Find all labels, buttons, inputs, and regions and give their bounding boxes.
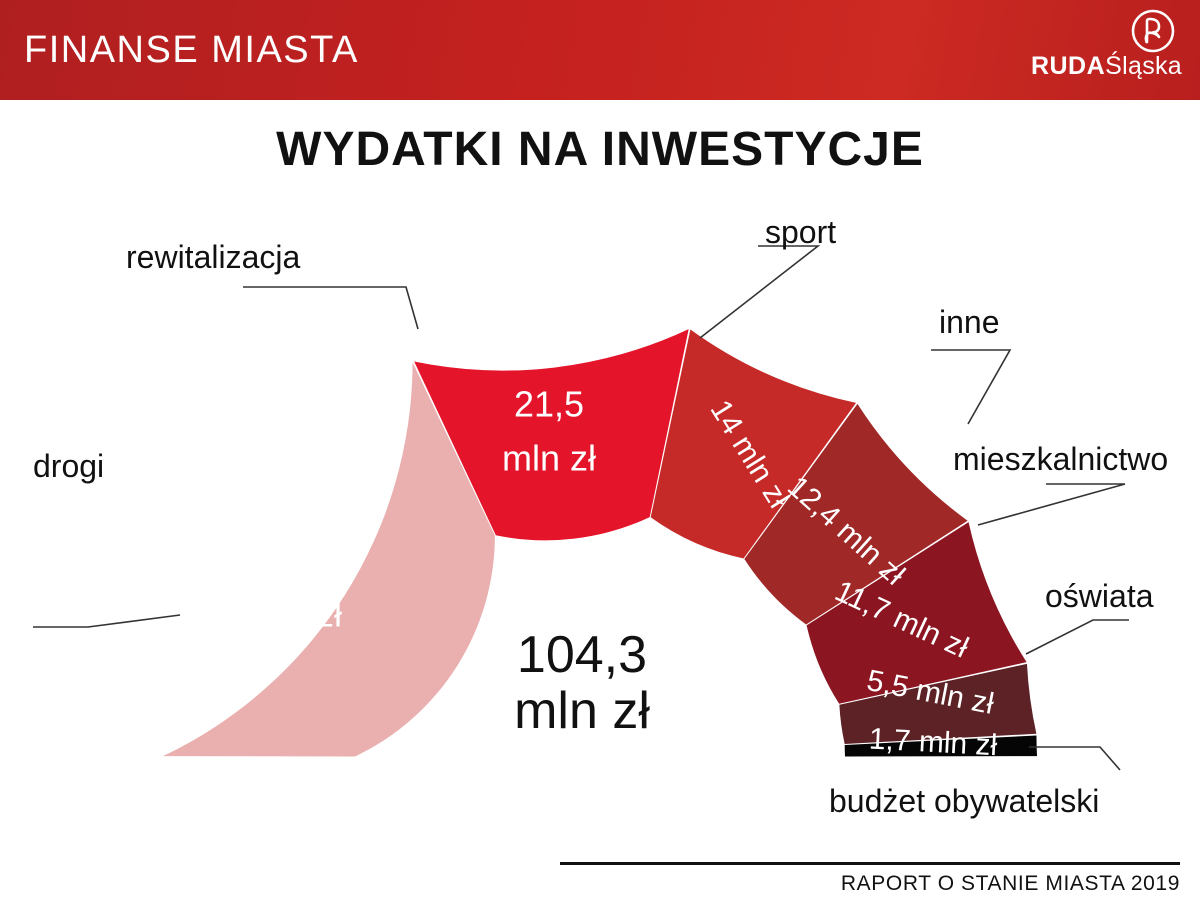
callout-label-sport: sport bbox=[765, 214, 836, 250]
center-total-value: 104,3 bbox=[517, 626, 647, 684]
slice-value-drogi: 37,5 bbox=[260, 549, 330, 590]
callout-label-oswiata: oświata bbox=[1045, 578, 1154, 614]
callout-label-mieszkalnictwo: mieszkalnictwo bbox=[953, 441, 1168, 477]
leader-line-drogi bbox=[33, 615, 180, 627]
leader-line-mieszkalnictwo bbox=[978, 484, 1125, 525]
half-donut-chart: 37,5 mln zł 21,5 mln zł 14 mln zł 12,4 m… bbox=[0, 0, 1200, 900]
leader-line-oswiata bbox=[1026, 620, 1129, 654]
slice-value-rewitalizacja: 21,5 bbox=[514, 384, 584, 425]
callout-label-drogi: drogi bbox=[33, 448, 104, 484]
slice-value-budzet-obywatelski: 1,7 mln zł bbox=[868, 723, 998, 763]
slice-unit-drogi: mln zł bbox=[248, 594, 342, 635]
callout-label-inne: inne bbox=[939, 304, 1000, 340]
footer-source: RAPORT O STANIE MIASTA 2019 bbox=[841, 872, 1180, 896]
leader-line-rewitalizacja bbox=[243, 287, 418, 329]
leader-line-budzet-obywatelski bbox=[1029, 747, 1120, 770]
slice-unit-rewitalizacja: mln zł bbox=[502, 438, 596, 479]
callout-label-rewitalizacja: rewitalizacja bbox=[126, 239, 300, 275]
center-total-unit: mln zł bbox=[514, 682, 650, 740]
callout-label-budzet-obywatelski: budżet obywatelski bbox=[829, 783, 1099, 819]
footer-divider bbox=[560, 862, 1180, 865]
leader-line-sport bbox=[700, 246, 818, 338]
chart-center-total: 104,3 mln zł bbox=[514, 626, 650, 740]
leader-line-inne bbox=[931, 350, 1010, 424]
